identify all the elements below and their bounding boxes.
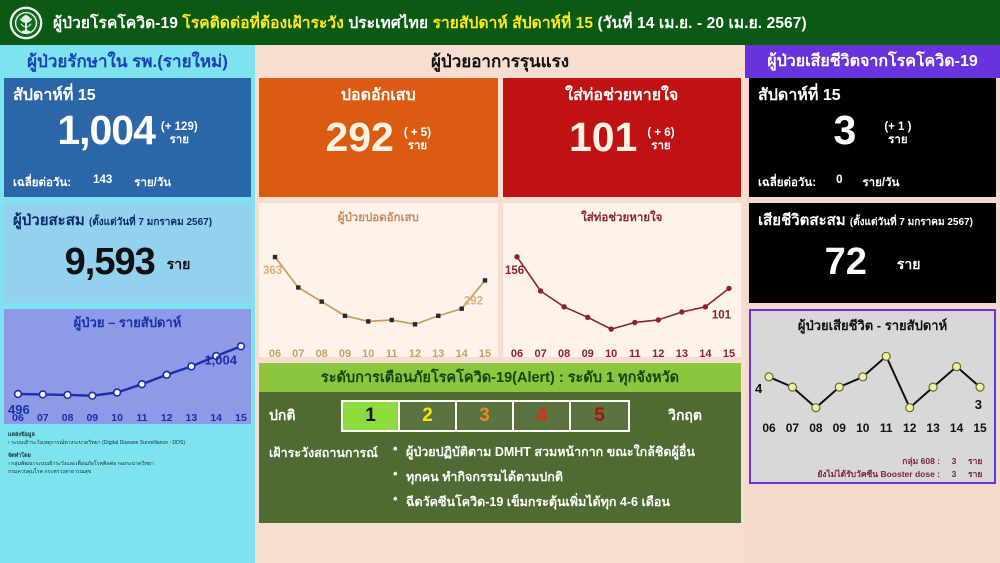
chart-x-tick: 11 bbox=[136, 412, 147, 424]
chart-x-tick: 13 bbox=[675, 348, 687, 360]
chart-x-tick: 12 bbox=[161, 412, 173, 424]
alert-scale: ปกติ 12345 วิกฤต bbox=[269, 400, 731, 432]
chart-data-point bbox=[39, 391, 46, 398]
pneumonia-chart-title: ผู้ป่วยปอดอักเสบ bbox=[259, 203, 498, 227]
chart-data-point bbox=[139, 381, 146, 388]
chart-data-point bbox=[561, 305, 565, 309]
chart-first-value-label: 156 bbox=[505, 265, 524, 277]
ventilator-label: ใส่ท่อช่วยหายใจ bbox=[512, 83, 733, 108]
alert-note-item: ผู้ป่วยปฏิบัติตาม DMHT สวมหน้ากาก ขณะใกล… bbox=[393, 442, 695, 462]
deaths-column: ผู้ป่วยเสียชีวิตจากโรคโควิด-19 สัปดาห์ที… bbox=[745, 45, 1000, 563]
chart-series-line bbox=[517, 257, 729, 329]
chart-data-point bbox=[483, 278, 487, 282]
chart-x-tick: 12 bbox=[903, 421, 917, 435]
chart-data-point bbox=[788, 383, 796, 391]
title-part-2: ประเทศไทย bbox=[344, 15, 433, 32]
hospitalized-new-delta: (+ 129) ราย bbox=[161, 121, 198, 151]
chart-x-tick: 11 bbox=[628, 348, 640, 360]
alert-level-box-2[interactable]: 2 bbox=[400, 402, 457, 430]
chart-data-point bbox=[163, 371, 170, 378]
weekly-deaths-chart-title: ผู้ป่วยเสียชีวิต - รายสัปดาห์ bbox=[751, 311, 994, 336]
deaths-cumulative-value: 72 bbox=[825, 243, 867, 281]
ventilator-delta-number: ( + 6) bbox=[647, 127, 674, 140]
deaths-cumulative-since: (ตั้งแต่วันที่ 7 มกราคม 2567) bbox=[850, 217, 973, 228]
prepared-by-line-1: › กลุ่มพัฒนาระบบเฝ้าระวังและเตือนภัยโรคต… bbox=[8, 460, 247, 468]
chart-x-tick: 13 bbox=[432, 348, 444, 360]
cumulative-since: (ตั้งแต่วันที่ 7 มกราคม 2567) bbox=[89, 217, 212, 228]
chart-x-tick: 08 bbox=[316, 348, 328, 360]
hospitalized-delta-unit: ราย bbox=[161, 134, 198, 147]
deaths-footer-value: 3 bbox=[946, 455, 962, 467]
chart-x-tick: 08 bbox=[809, 421, 823, 435]
hospitalized-week-label: สัปดาห์ที่ 15 bbox=[13, 83, 242, 108]
chart-data-point bbox=[114, 389, 121, 396]
chart-last-value-label: 101 bbox=[711, 309, 731, 321]
thai-moph-caduceus-emblem-icon bbox=[8, 5, 44, 41]
chart-data-point bbox=[273, 255, 277, 259]
chart-x-tick: 09 bbox=[833, 421, 847, 435]
chart-data-point bbox=[609, 327, 613, 331]
deaths-cumulative-card: เสียชีวิตสะสม (ตั้งแต่วันที่ 7 มกราคม 25… bbox=[749, 203, 996, 303]
deaths-new-delta: (+ 1 ) ราย bbox=[884, 121, 911, 151]
title-highlight-1: โรคติดต่อที่ต้องเฝ้าระวัง bbox=[182, 15, 344, 32]
chart-x-tick: 15 bbox=[973, 421, 987, 435]
chart-data-point bbox=[585, 315, 589, 319]
alert-level-bar: ระดับการเตือนภัยโรคโควิด-19(Alert) : ระด… bbox=[259, 363, 741, 392]
chart-x-tick: 14 bbox=[456, 348, 469, 360]
hospitalized-panel-title: ผู้ป่วยรักษาใน รพ.(รายใหม่) bbox=[0, 45, 255, 78]
chart-data-point bbox=[703, 305, 707, 309]
ventilator-card: ใส่ท่อช่วยหายใจ 101 ( + 6) ราย bbox=[503, 78, 742, 197]
ventilator-value: 101 bbox=[569, 117, 637, 158]
hospitalized-avg-value: 143 bbox=[93, 174, 112, 192]
ventilator-plot: 06070809101112131415156101 bbox=[503, 227, 741, 363]
chart-data-point bbox=[906, 404, 914, 412]
title-part-3: (วันที่ 14 เม.ย. - 20 เม.ย. 2567) bbox=[593, 15, 807, 32]
chart-x-tick: 10 bbox=[856, 421, 870, 435]
chart-data-point bbox=[413, 322, 417, 326]
chart-x-tick: 07 bbox=[292, 348, 304, 360]
hospitalized-avg-label: เฉลี่ยต่อวัน: bbox=[13, 174, 71, 192]
hospitalized-cumulative-card: ผู้ป่วยสะสม (ตั้งแต่วันที่ 7 มกราคม 2567… bbox=[4, 203, 251, 303]
alert-level-boxes: 12345 bbox=[341, 400, 630, 432]
chart-data-point bbox=[976, 383, 984, 391]
chart-x-tick: 09 bbox=[339, 348, 351, 360]
deaths-cumulative-title: เสียชีวิตสะสม bbox=[758, 212, 846, 229]
alert-notes: เฝ้าระวังสถานการณ์ ผู้ป่วยปฏิบัติตาม DMH… bbox=[269, 442, 731, 517]
chart-data-point bbox=[929, 383, 937, 391]
chart-last-value-label: 3 bbox=[975, 397, 982, 412]
deaths-footer-stats: กลุ่ม 608 :3รายยังไม่ได้รับวัคซีน Booste… bbox=[817, 455, 990, 480]
deaths-footer-row: ยังไม่ได้รับวัคซีน Booster dose :3ราย bbox=[817, 468, 990, 480]
prepared-by-line-2: กรมควบคุมโรค กระทรวงสาธารณสุข bbox=[8, 468, 247, 476]
source-heading: แหล่งข้อมูล bbox=[8, 431, 247, 439]
alert-level-box-3[interactable]: 3 bbox=[457, 402, 514, 430]
alert-level-box-1[interactable]: 1 bbox=[343, 402, 400, 430]
deaths-cumulative-unit: ราย bbox=[897, 254, 921, 281]
alert-notes-label: เฝ้าระวังสถานการณ์ bbox=[269, 442, 387, 517]
page-header: ผู้ป่วยโรคโควิด-19 โรคติดต่อที่ต้องเฝ้าร… bbox=[0, 0, 1000, 45]
chart-data-point bbox=[64, 392, 71, 399]
deaths-week-label: สัปดาห์ที่ 15 bbox=[758, 83, 987, 108]
chart-x-tick: 14 bbox=[950, 421, 964, 435]
weekly-patients-chart-title: ผู้ป่วย – รายสัปดาห์ bbox=[4, 309, 251, 333]
deaths-footer-unit: ราย bbox=[968, 468, 990, 480]
weekly-patients-chart: ผู้ป่วย – รายสัปดาห์ 0607080910111213141… bbox=[4, 309, 251, 424]
chart-data-point bbox=[726, 286, 730, 290]
chart-data-point bbox=[436, 314, 440, 318]
alert-note-item: ฉีดวัคซีนโควิด-19 เข็มกระตุ้นเพิ่มได้ทุก… bbox=[393, 492, 695, 512]
chart-x-tick: 15 bbox=[479, 348, 491, 360]
chart-data-point bbox=[296, 285, 300, 289]
chart-data-point bbox=[953, 363, 961, 371]
chart-x-tick: 10 bbox=[362, 348, 374, 360]
chart-data-point bbox=[188, 363, 195, 370]
chart-x-tick: 09 bbox=[581, 348, 593, 360]
chart-data-point bbox=[343, 314, 347, 318]
chart-data-point bbox=[656, 318, 660, 322]
chart-x-tick: 10 bbox=[605, 348, 617, 360]
deaths-avg-label: เฉลี่ยต่อวัน: bbox=[758, 174, 816, 192]
chart-x-tick: 11 bbox=[386, 348, 398, 360]
severe-panel-title: ผู้ป่วยอาการรุนแรง bbox=[255, 45, 745, 78]
chart-data-point bbox=[882, 352, 890, 360]
cumulative-value: 9,593 bbox=[65, 243, 155, 281]
chart-x-tick: 12 bbox=[409, 348, 421, 360]
deaths-footer-value: 3 bbox=[946, 468, 962, 480]
chart-x-tick: 08 bbox=[557, 348, 569, 360]
ventilator-chart: ใส่ท่อช่วยหายใจ 060708091011121314151561… bbox=[503, 203, 742, 357]
pneumonia-chart: ผู้ป่วยปอดอักเสบ 06070809101112131415363… bbox=[259, 203, 498, 357]
title-highlight-2: รายสัปดาห์ สัปดาห์ที่ 15 bbox=[433, 15, 594, 32]
chart-data-point bbox=[514, 255, 518, 259]
pneumonia-delta: ( + 5) ราย bbox=[404, 127, 431, 158]
hospitalized-average-row: เฉลี่ยต่อวัน: 143 ราย/วัน bbox=[13, 174, 171, 192]
deaths-delta-unit: ราย bbox=[884, 134, 911, 147]
deaths-new-card: สัปดาห์ที่ 15 3 (+ 1 ) ราย เฉลี่ยต่อวัน:… bbox=[749, 78, 996, 197]
pneumonia-delta-unit: ราย bbox=[404, 140, 431, 153]
chart-x-tick: 15 bbox=[235, 412, 247, 424]
chart-data-point bbox=[859, 373, 867, 381]
alert-level-body: ปกติ 12345 วิกฤต เฝ้าระวังสถานการณ์ ผู้ป… bbox=[259, 392, 741, 523]
chart-data-point bbox=[632, 320, 636, 324]
chart-x-tick: 09 bbox=[86, 412, 98, 424]
pneumonia-card: ปอดอักเสบ 292 ( + 5) ราย bbox=[259, 78, 498, 197]
severe-cards-row: ปอดอักเสบ 292 ( + 5) ราย ใส่ท่อช่วยหายใจ… bbox=[255, 78, 745, 197]
alert-normal-label: ปกติ bbox=[269, 405, 331, 427]
deaths-footer-row: กลุ่ม 608 :3ราย bbox=[817, 455, 990, 467]
chart-x-tick: 07 bbox=[534, 348, 546, 360]
chart-x-tick: 07 bbox=[37, 412, 49, 424]
alert-level-box-4[interactable]: 4 bbox=[514, 402, 571, 430]
deaths-delta-number: (+ 1 ) bbox=[884, 121, 911, 134]
hospitalized-delta-number: (+ 129) bbox=[161, 121, 198, 134]
chart-last-value-label: 1,004 bbox=[204, 352, 237, 367]
source-line: › ระบบเฝ้าระวังเหตุการณ์ทางระบาดวิทยา (D… bbox=[8, 439, 247, 447]
chart-x-tick: 08 bbox=[62, 412, 74, 424]
chart-x-tick: 06 bbox=[269, 348, 281, 360]
chart-series-line bbox=[275, 257, 485, 324]
chart-first-value-label: 4 bbox=[755, 381, 763, 396]
chart-first-value-label: 496 bbox=[8, 402, 30, 417]
chart-x-tick: 10 bbox=[111, 412, 123, 424]
title-part-1: ผู้ป่วยโรคโควิด-19 bbox=[53, 15, 182, 32]
deaths-footer-label: กลุ่ม 608 : bbox=[902, 455, 940, 467]
hospitalized-new-card: สัปดาห์ที่ 15 1,004 (+ 129) ราย เฉลี่ยต่… bbox=[4, 78, 251, 197]
chart-x-tick: 12 bbox=[652, 348, 664, 360]
deaths-new-value: 3 bbox=[834, 110, 857, 151]
chart-data-point bbox=[366, 319, 370, 323]
chart-x-tick: 13 bbox=[186, 412, 198, 424]
chart-x-tick: 06 bbox=[510, 348, 522, 360]
hospitalized-avg-unit: ราย/วัน bbox=[134, 174, 171, 192]
chart-data-point bbox=[89, 392, 96, 399]
severe-charts-row: ผู้ป่วยปอดอักเสบ 06070809101112131415363… bbox=[255, 197, 745, 357]
ventilator-delta: ( + 6) ราย bbox=[647, 127, 674, 158]
page-title: ผู้ป่วยโรคโควิด-19 โรคติดต่อที่ต้องเฝ้าร… bbox=[53, 10, 807, 35]
chart-first-value-label: 363 bbox=[263, 265, 282, 277]
weekly-deaths-plot: 0607080910111213141543 bbox=[751, 336, 994, 458]
ventilator-chart-title: ใส่ท่อช่วยหายใจ bbox=[503, 203, 742, 227]
chart-series-line bbox=[769, 356, 980, 407]
deaths-footer-label: ยังไม่ได้รับวัคซีน Booster dose : bbox=[817, 468, 940, 480]
chart-data-point bbox=[835, 383, 843, 391]
alert-note-item: ทุกคน ทำกิจกรรมได้ตามปกติ bbox=[393, 467, 695, 487]
chart-data-point bbox=[812, 404, 820, 412]
severe-cases-column: ผู้ป่วยอาการรุนแรง ปอดอักเสบ 292 ( + 5) … bbox=[255, 45, 745, 563]
cumulative-title: ผู้ป่วยสะสม bbox=[13, 212, 85, 229]
chart-data-point bbox=[679, 310, 683, 314]
deaths-panel-title: ผู้ป่วยเสียชีวิตจากโรคโควิด-19 bbox=[745, 45, 1000, 78]
deaths-footer-unit: ราย bbox=[968, 455, 990, 467]
chart-data-point bbox=[765, 373, 773, 381]
chart-x-tick: 06 bbox=[762, 421, 776, 435]
chart-x-tick: 15 bbox=[722, 348, 734, 360]
alert-notes-list: ผู้ป่วยปฏิบัติตาม DMHT สวมหน้ากาก ขณะใกล… bbox=[393, 442, 695, 517]
pneumonia-delta-number: ( + 5) bbox=[404, 127, 431, 140]
deaths-average-row: เฉลี่ยต่อวัน: 0 ราย/วัน bbox=[758, 174, 899, 192]
hospitalized-new-value: 1,004 bbox=[57, 110, 155, 151]
chart-last-value-label: 292 bbox=[464, 295, 483, 307]
dashboard-root: ผู้ป่วยโรคโควิด-19 โรคติดต่อที่ต้องเฝ้าร… bbox=[0, 0, 1000, 563]
chart-x-tick: 13 bbox=[926, 421, 940, 435]
hospitalized-column: ผู้ป่วยรักษาใน รพ.(รายใหม่) สัปดาห์ที่ 1… bbox=[0, 45, 255, 563]
chart-data-point bbox=[538, 289, 542, 293]
chart-x-tick: 07 bbox=[786, 421, 800, 435]
ventilator-delta-unit: ราย bbox=[647, 140, 674, 153]
alert-critical-label: วิกฤต bbox=[640, 405, 702, 427]
deaths-avg-unit: ราย/วัน bbox=[862, 174, 899, 192]
weekly-deaths-chart: ผู้ป่วยเสียชีวิต - รายสัปดาห์ 0607080910… bbox=[749, 309, 996, 484]
deaths-avg-value: 0 bbox=[836, 174, 842, 192]
cumulative-unit: ราย bbox=[167, 254, 191, 281]
left-footer-notes: แหล่งข้อมูล › ระบบเฝ้าระวังเหตุการณ์ทางร… bbox=[4, 429, 251, 478]
chart-data-point bbox=[390, 318, 394, 322]
chart-data-point bbox=[15, 391, 22, 398]
chart-x-tick: 14 bbox=[210, 412, 222, 424]
chart-x-tick: 11 bbox=[880, 421, 893, 435]
alert-level-box-5[interactable]: 5 bbox=[571, 402, 628, 430]
prepared-by-heading: จัดทำโดย bbox=[8, 452, 247, 460]
chart-x-tick: 14 bbox=[699, 348, 712, 360]
chart-data-point bbox=[320, 299, 324, 303]
chart-data-point bbox=[238, 343, 245, 350]
weekly-patients-plot: 060708091011121314154961,004 bbox=[4, 333, 251, 425]
pneumonia-plot: 06070809101112131415363292 bbox=[259, 227, 497, 363]
pneumonia-label: ปอดอักเสบ bbox=[268, 83, 489, 108]
pneumonia-value: 292 bbox=[325, 117, 393, 158]
